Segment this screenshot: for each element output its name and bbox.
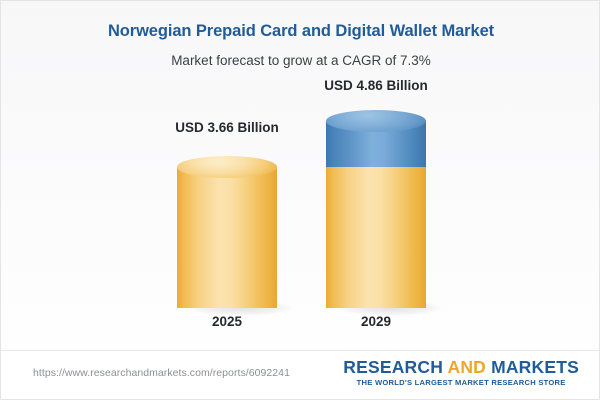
category-label-2025: 2025 [177, 314, 277, 329]
chart-card: Norwegian Prepaid Card and Digital Walle… [0, 0, 600, 400]
segment-growth-2029 [326, 121, 426, 167]
logo-word-and: AND [447, 357, 486, 377]
segment-top-cap [177, 156, 277, 178]
segment-base-2029 [326, 167, 426, 308]
footer: https://www.researchandmarkets.com/repor… [1, 350, 600, 399]
brand-logo[interactable]: RESEARCH AND MARKETS THE WORLD'S LARGEST… [343, 358, 579, 387]
logo-word-markets: MARKETS [491, 357, 579, 377]
cylinder-2025[interactable] [177, 167, 277, 308]
segment-top-cap [326, 110, 426, 132]
cylinder-2029[interactable] [326, 121, 426, 308]
logo-tagline: THE WORLD'S LARGEST MARKET RESEARCH STOR… [343, 378, 579, 387]
segment-body [326, 167, 426, 308]
segment-body [177, 167, 277, 308]
plot-area: USD 3.66 Billion 2025 USD 4.86 Billion [1, 1, 600, 351]
logo-word-research: RESEARCH [343, 357, 443, 377]
category-label-2029: 2029 [326, 314, 426, 329]
logo-wordmark: RESEARCH AND MARKETS [343, 358, 579, 376]
report-url[interactable]: https://www.researchandmarkets.com/repor… [33, 367, 290, 379]
segment-base-2025 [177, 167, 277, 308]
data-label-2029: USD 4.86 Billion [286, 78, 466, 93]
data-label-2025: USD 3.66 Billion [137, 120, 317, 135]
